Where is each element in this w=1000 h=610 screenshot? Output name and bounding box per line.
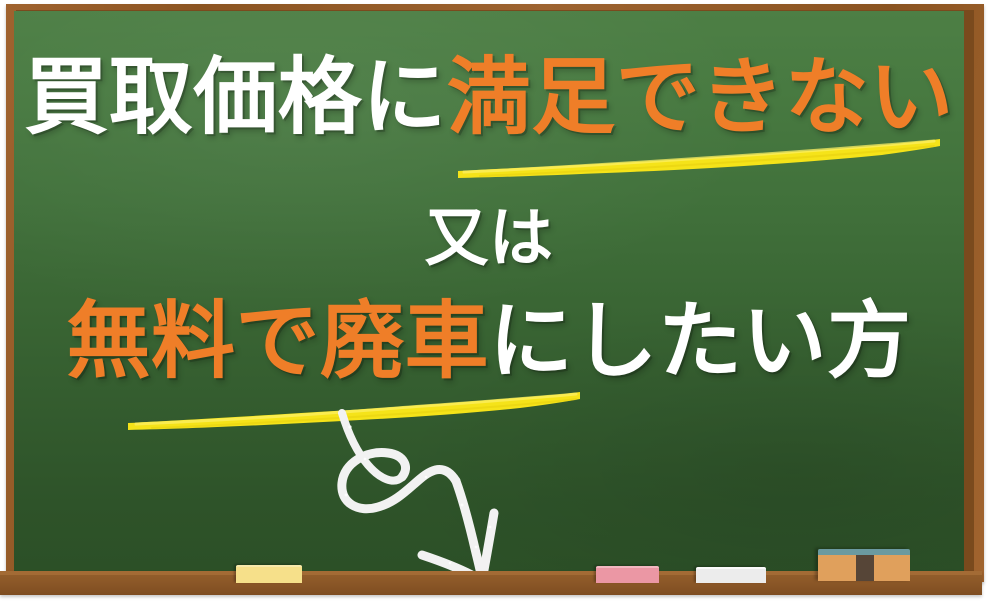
headline-line-2-text: 又は (425, 202, 554, 276)
yellow-underline-2 (124, 389, 584, 431)
eraser-strap (856, 555, 874, 581)
green-chalkboard: 買取価格に満足できない 又は 無料で廃車にしたい方 (14, 11, 964, 571)
headline-line-2: 又は (14, 207, 964, 271)
headline-line-1-orange: 満足できない (447, 48, 954, 146)
headline-line-1: 買取価格に満足できない (14, 55, 964, 139)
white-chalk-curly-down-arrow (310, 407, 570, 571)
headline-line-3-white: にしたい方 (489, 292, 912, 390)
chalk-pink[interactable] (596, 566, 659, 583)
headline-line-3-orange: 無料で廃車 (66, 292, 489, 390)
chalk-yellow[interactable] (236, 565, 302, 583)
headline-line-1-white: 買取価格に (24, 48, 447, 146)
headline-line-3: 無料で廃車にしたい方 (14, 299, 964, 383)
blackboard-eraser[interactable] (818, 549, 910, 581)
chalk-white[interactable] (696, 567, 766, 583)
chalkboard-banner: 買取価格に満足できない 又は 無料で廃車にしたい方 (0, 0, 1000, 610)
